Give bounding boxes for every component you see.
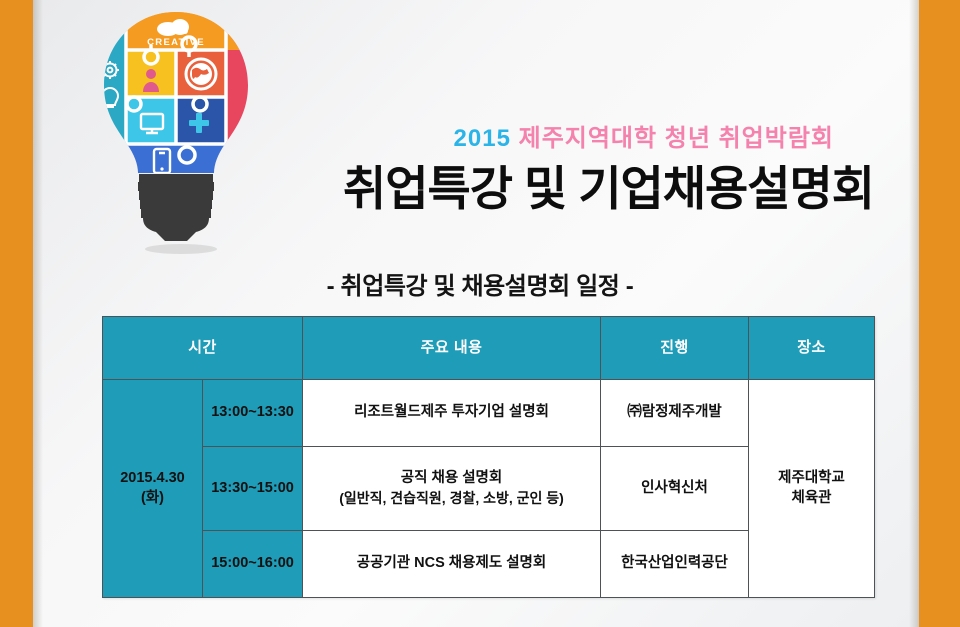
cell-host-1: ㈜람정제주개발 (601, 380, 749, 447)
date-value: 2015.4.30 (120, 470, 185, 486)
cell-topic-1: 리조트월드제주 투자기업 설명회 (303, 380, 601, 447)
topic-sub-2: (일반직, 견습직원, 경찰, 소방, 군인 등) (303, 489, 600, 508)
cell-time-1: 13:00~13:30 (203, 380, 303, 447)
topic-main-3: 공공기관 NCS 채용제도 설명회 (357, 555, 546, 571)
left-orange-bar (0, 0, 33, 627)
table-row: 2015.4.30 (화) 13:00~13:30 리조트월드제주 투자기업 설… (103, 380, 875, 447)
globe-icon (186, 59, 216, 89)
place-sub: 체육관 (792, 490, 832, 506)
cell-host-3: 한국산업인력공단 (601, 531, 749, 598)
schedule-table: 시간 주요 내용 진행 장소 2015.4.30 (화) 13:00~13:30… (102, 316, 875, 598)
cell-topic-2: 공직 채용 설명회 (일반직, 견습직원, 경찰, 소방, 군인 등) (303, 447, 601, 531)
poster-canvas: CREATIVE (0, 0, 960, 627)
cell-date: 2015.4.30 (화) (103, 380, 203, 598)
section-heading: - 취업특강 및 채용설명회 일정 - (0, 266, 960, 301)
column-header-time: 시간 (103, 317, 303, 380)
left-bar-shadow (33, 0, 43, 627)
event-subtitle: 2015 제주지역대학 청년 취업박람회 (0, 118, 902, 153)
cell-time-2: 13:30~15:00 (203, 447, 303, 531)
cell-place: 제주대학교 체육관 (749, 380, 875, 598)
column-header-place: 장소 (749, 317, 875, 380)
column-header-content: 주요 내용 (303, 317, 601, 380)
table-header-row: 시간 주요 내용 진행 장소 (103, 317, 875, 380)
page-title: 취업특강 및 기업채용설명회 (0, 150, 902, 219)
creative-label: CREATIVE (147, 37, 205, 48)
topic-main-2: 공직 채용 설명회 (401, 470, 502, 486)
column-header-host: 진행 (601, 317, 749, 380)
bulb-shadow (145, 244, 217, 254)
right-orange-bar (919, 0, 960, 627)
right-bar-shadow (909, 0, 919, 627)
cell-host-2: 인사혁신처 (601, 447, 749, 531)
subtitle-text: 제주지역대학 청년 취업박람회 (519, 125, 834, 152)
cell-topic-3: 공공기관 NCS 채용제도 설명회 (303, 531, 601, 598)
place-value: 제주대학교 (778, 470, 845, 486)
cell-time-3: 15:00~16:00 (203, 531, 303, 598)
date-day: (화) (141, 490, 164, 506)
topic-main-1: 리조트월드제주 투자기업 설명회 (354, 404, 549, 420)
subtitle-year: 2015 (454, 125, 511, 152)
